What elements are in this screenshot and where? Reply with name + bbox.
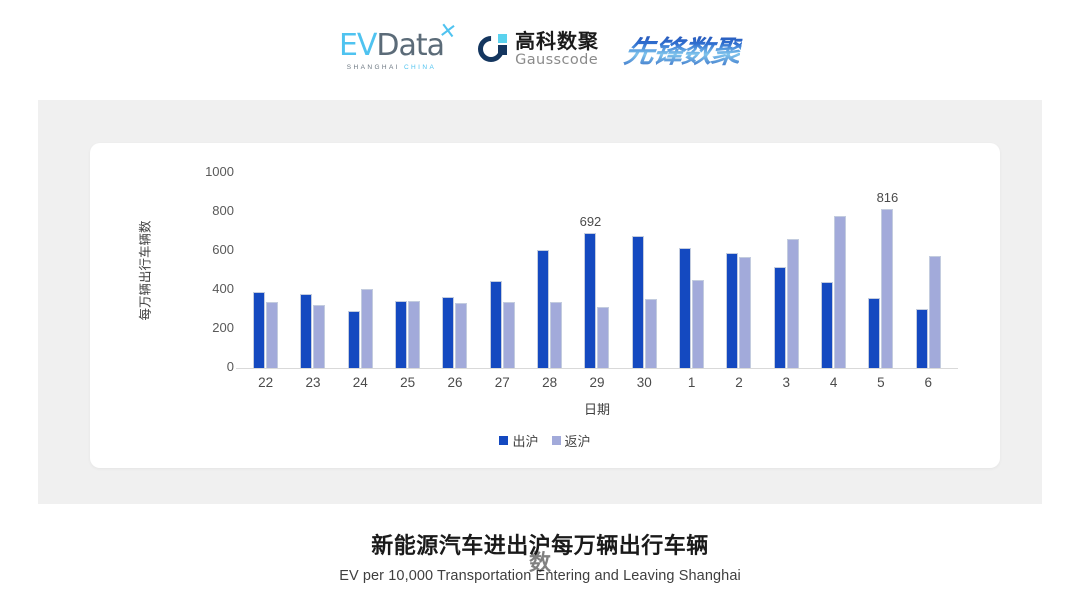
gausscode-g-circle-icon	[478, 34, 508, 64]
x-axis-line	[236, 368, 958, 369]
y-axis-tick-label: 1000	[188, 164, 234, 179]
bar-back[interactable]	[692, 280, 704, 368]
bar-out[interactable]	[726, 253, 738, 368]
bar-back[interactable]	[739, 257, 751, 368]
x-axis-tick-label: 2	[715, 375, 762, 390]
bar-group	[289, 173, 336, 368]
y-axis-tick-label: 800	[188, 203, 234, 218]
bar-out[interactable]: 692	[584, 233, 596, 368]
legend-swatch	[499, 436, 508, 445]
x-axis-tick-label: 6	[905, 375, 952, 390]
x-axis-ticks: 222324252627282930123456	[242, 375, 952, 390]
bar-group	[621, 173, 668, 368]
chart-card: 每万辆出行车辆数 10008006004002000 692816 222324…	[90, 143, 1000, 468]
evdata-ev-text: EV	[339, 28, 376, 63]
x-axis-tick-label: 25	[384, 375, 431, 390]
bar-out[interactable]	[537, 250, 549, 368]
x-axis-title: 日期	[242, 399, 952, 418]
x-axis-tick-label: 5	[857, 375, 904, 390]
footer-title-en: EV per 10,000 Transportation Entering an…	[0, 568, 1080, 584]
y-axis-tick-label: 600	[188, 242, 234, 257]
y-axis-title: 每万辆出行车辆数	[135, 211, 154, 331]
evdata-subtitle-china: CHINA	[404, 64, 436, 71]
x-axis-tick-label: 29	[573, 375, 620, 390]
bar-back[interactable]	[361, 289, 373, 368]
bar-group	[810, 173, 857, 368]
bar-series-container: 692816	[242, 173, 952, 368]
bar-back[interactable]: 816	[881, 209, 893, 368]
bar-out[interactable]	[395, 301, 407, 368]
bar-group	[384, 173, 431, 368]
x-axis-tick-label: 24	[337, 375, 384, 390]
bar-out[interactable]	[442, 297, 454, 368]
gausscode-cn-text: 高科数聚	[515, 31, 599, 51]
bar-back[interactable]	[313, 305, 325, 368]
slide-page: EV Data ✕ SHANGHAI CHINA 高科数聚 Gausscode …	[0, 0, 1080, 608]
legend-item[interactable]: 返沪	[552, 431, 591, 450]
legend-swatch	[552, 436, 561, 445]
bar-group	[715, 173, 762, 368]
logo-xianfeng: 先锋数聚	[625, 27, 741, 71]
evdata-subtitle: SHANGHAI CHINA	[347, 64, 436, 71]
bar-out[interactable]	[300, 294, 312, 368]
bar-back[interactable]	[834, 216, 846, 368]
legend-label: 返沪	[565, 431, 591, 450]
bar-out[interactable]	[821, 282, 833, 368]
bar-out[interactable]	[679, 248, 691, 368]
footer-title-cn: 新能源汽车进出沪每万辆出行车辆	[0, 528, 1080, 560]
footer-titles: 新能源汽车进出沪每万辆出行车辆 数 EV per 10,000 Transpor…	[0, 528, 1080, 584]
x-axis-tick-label: 30	[621, 375, 668, 390]
logo-bar: EV Data ✕ SHANGHAI CHINA 高科数聚 Gausscode …	[0, 18, 1080, 80]
bar-back[interactable]	[266, 302, 278, 368]
bar-group: 692	[573, 173, 620, 368]
bar-back[interactable]	[503, 302, 515, 368]
evdata-wordmark: EV Data ✕	[339, 28, 444, 63]
bar-out[interactable]	[774, 267, 786, 368]
bar-group	[242, 173, 289, 368]
bar-group	[526, 173, 573, 368]
x-axis-tick-label: 27	[479, 375, 526, 390]
bar-back[interactable]	[645, 299, 657, 368]
x-axis-tick-label: 4	[810, 375, 857, 390]
y-axis-tick-label: 400	[188, 281, 234, 296]
legend-item[interactable]: 出沪	[499, 431, 538, 450]
bar-value-label: 692	[580, 214, 602, 229]
bar-back[interactable]	[408, 301, 420, 368]
y-axis-tick-label: 200	[188, 320, 234, 335]
bar-chart: 每万辆出行车辆数 10008006004002000 692816 222324…	[90, 143, 1000, 468]
bar-group	[479, 173, 526, 368]
bar-back[interactable]	[787, 239, 799, 368]
bar-group	[763, 173, 810, 368]
x-axis-tick-label: 22	[242, 375, 289, 390]
legend-label: 出沪	[512, 431, 538, 450]
bar-out[interactable]	[916, 309, 928, 368]
bar-out[interactable]	[490, 281, 502, 368]
bar-out[interactable]	[348, 311, 360, 368]
x-mark-icon: ✕	[438, 17, 459, 43]
y-axis-tick-label: 0	[188, 359, 234, 374]
bar-back[interactable]	[550, 302, 562, 368]
bar-out[interactable]	[253, 292, 265, 368]
bar-group	[905, 173, 952, 368]
xianfeng-cn-text: 先锋数聚	[622, 27, 745, 71]
chart-legend: 出沪返沪	[90, 431, 1000, 450]
bar-back[interactable]	[929, 256, 941, 368]
bar-group	[668, 173, 715, 368]
x-axis-tick-label: 1	[668, 375, 715, 390]
evdata-subtitle-shanghai: SHANGHAI	[347, 64, 400, 71]
x-axis-tick-label: 28	[526, 375, 573, 390]
plot-area: 692816	[242, 173, 952, 368]
x-axis-tick-label: 3	[763, 375, 810, 390]
x-axis-tick-label: 26	[431, 375, 478, 390]
x-axis-tick-label: 23	[289, 375, 336, 390]
evdata-data-text: Data	[376, 28, 444, 63]
logo-evdata: EV Data ✕ SHANGHAI CHINA	[339, 28, 452, 71]
bar-back[interactable]	[597, 307, 609, 368]
logo-gausscode: 高科数聚 Gausscode	[478, 31, 599, 68]
gausscode-en-text: Gausscode	[515, 53, 599, 68]
bar-value-label: 816	[877, 190, 899, 205]
bar-out[interactable]	[868, 298, 880, 368]
bar-out[interactable]	[632, 236, 644, 368]
bar-group: 816	[857, 173, 904, 368]
bar-group	[431, 173, 478, 368]
bar-group	[337, 173, 384, 368]
bar-back[interactable]	[455, 303, 467, 368]
